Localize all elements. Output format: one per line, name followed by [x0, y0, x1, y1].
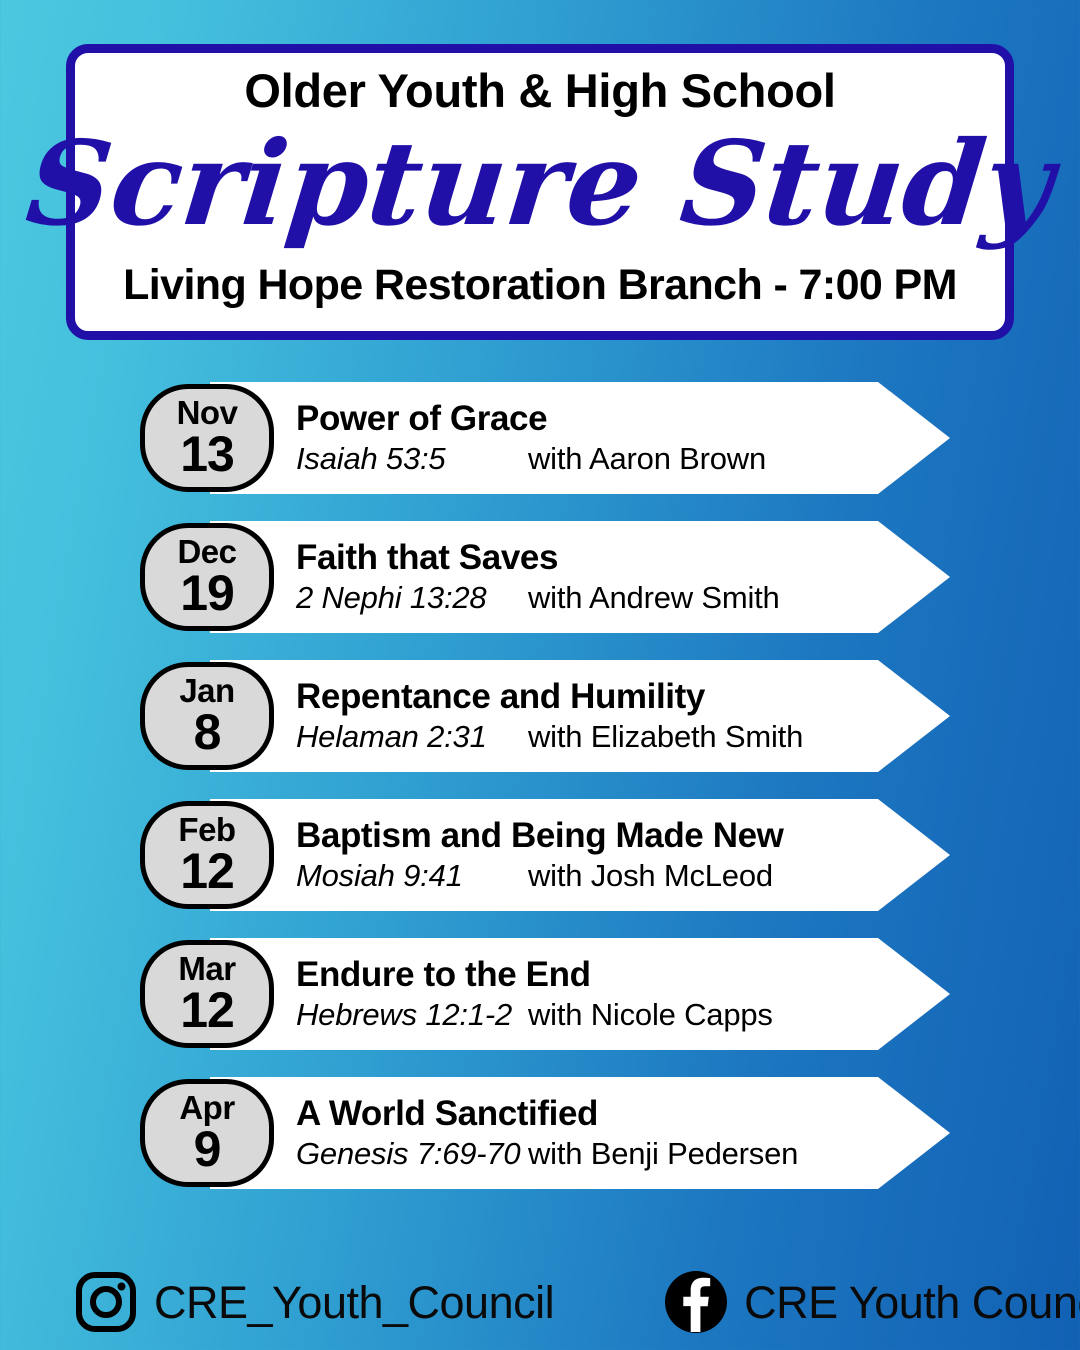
date-day: 13: [180, 429, 234, 479]
event-leader: with Aaron Brown: [528, 443, 766, 476]
date-badge: Dec 19: [140, 523, 274, 631]
date-badge: Apr 9: [140, 1079, 274, 1187]
date-badge: Nov 13: [140, 384, 274, 492]
instagram-icon: [74, 1270, 138, 1334]
event-text: Baptism and Being Made New Mosiah 9:41 w…: [296, 799, 896, 911]
event-text: Endure to the End Hebrews 12:1-2 with Ni…: [296, 938, 896, 1050]
event-leader: with Benji Pedersen: [528, 1138, 798, 1171]
date-month: Dec: [177, 535, 236, 568]
event-row[interactable]: Mar 12 Endure to the End Hebrews 12:1-2 …: [0, 938, 1080, 1050]
event-title: Endure to the End: [296, 956, 896, 993]
date-day: 12: [180, 985, 234, 1035]
event-leader: with Elizabeth Smith: [528, 721, 803, 754]
event-leader: with Josh McLeod: [528, 860, 773, 893]
event-title: Repentance and Humility: [296, 678, 896, 715]
event-scripture-reference: 2 Nephi 13:28: [296, 582, 528, 615]
event-row[interactable]: Feb 12 Baptism and Being Made New Mosiah…: [0, 799, 1080, 911]
date-badge: Feb 12: [140, 801, 274, 909]
footer: CRE_Youth_Council CRE Youth Council: [0, 1262, 1080, 1342]
date-month: Mar: [178, 952, 235, 985]
date-day: 12: [180, 846, 234, 896]
page-title: Scripture Study: [22, 126, 1058, 242]
event-meta: Isaiah 53:5 with Aaron Brown: [296, 443, 896, 476]
event-list: Nov 13 Power of Grace Isaiah 53:5 with A…: [0, 382, 1080, 1216]
event-row[interactable]: Nov 13 Power of Grace Isaiah 53:5 with A…: [0, 382, 1080, 494]
event-scripture-reference: Hebrews 12:1-2: [296, 999, 528, 1032]
date-badge: Mar 12: [140, 940, 274, 1048]
date-month: Apr: [179, 1091, 234, 1124]
event-text: A World Sanctified Genesis 7:69-70 with …: [296, 1077, 896, 1189]
facebook-handle: CRE Youth Council: [744, 1280, 1080, 1325]
event-title: Faith that Saves: [296, 539, 896, 576]
date-month: Feb: [178, 813, 235, 846]
header-card: Older Youth & High School Scripture Stud…: [66, 44, 1014, 340]
event-title: Baptism and Being Made New: [296, 817, 896, 854]
event-leader: with Andrew Smith: [528, 582, 780, 615]
event-meta: Genesis 7:69-70 with Benji Pedersen: [296, 1138, 896, 1171]
event-row[interactable]: Apr 9 A World Sanctified Genesis 7:69-70…: [0, 1077, 1080, 1189]
event-meta: Helaman 2:31 with Elizabeth Smith: [296, 721, 896, 754]
date-day: 9: [194, 1124, 221, 1174]
date-month: Jan: [179, 674, 234, 707]
event-scripture-reference: Isaiah 53:5: [296, 443, 528, 476]
event-scripture-reference: Mosiah 9:41: [296, 860, 528, 893]
event-title: A World Sanctified: [296, 1095, 896, 1132]
event-meta: Mosiah 9:41 with Josh McLeod: [296, 860, 896, 893]
event-text: Power of Grace Isaiah 53:5 with Aaron Br…: [296, 382, 896, 494]
facebook-link[interactable]: CRE Youth Council: [664, 1270, 1080, 1334]
event-scripture-reference: Genesis 7:69-70: [296, 1138, 528, 1171]
date-badge: Jan 8: [140, 662, 274, 770]
date-day: 8: [194, 707, 221, 757]
event-meta: 2 Nephi 13:28 with Andrew Smith: [296, 582, 896, 615]
event-meta: Hebrews 12:1-2 with Nicole Capps: [296, 999, 896, 1032]
date-month: Nov: [177, 396, 238, 429]
event-text: Repentance and Humility Helaman 2:31 wit…: [296, 660, 896, 772]
event-scripture-reference: Helaman 2:31: [296, 721, 528, 754]
facebook-icon: [664, 1270, 728, 1334]
header-eyebrow: Older Youth & High School: [244, 67, 835, 114]
header-subtitle: Living Hope Restoration Branch - 7:00 PM: [123, 264, 957, 307]
instagram-link[interactable]: CRE_Youth_Council: [74, 1270, 554, 1334]
event-leader: with Nicole Capps: [528, 999, 773, 1032]
event-title: Power of Grace: [296, 400, 896, 437]
date-day: 19: [180, 568, 234, 618]
instagram-handle: CRE_Youth_Council: [154, 1280, 554, 1325]
event-row[interactable]: Jan 8 Repentance and Humility Helaman 2:…: [0, 660, 1080, 772]
event-text: Faith that Saves 2 Nephi 13:28 with Andr…: [296, 521, 896, 633]
event-row[interactable]: Dec 19 Faith that Saves 2 Nephi 13:28 wi…: [0, 521, 1080, 633]
